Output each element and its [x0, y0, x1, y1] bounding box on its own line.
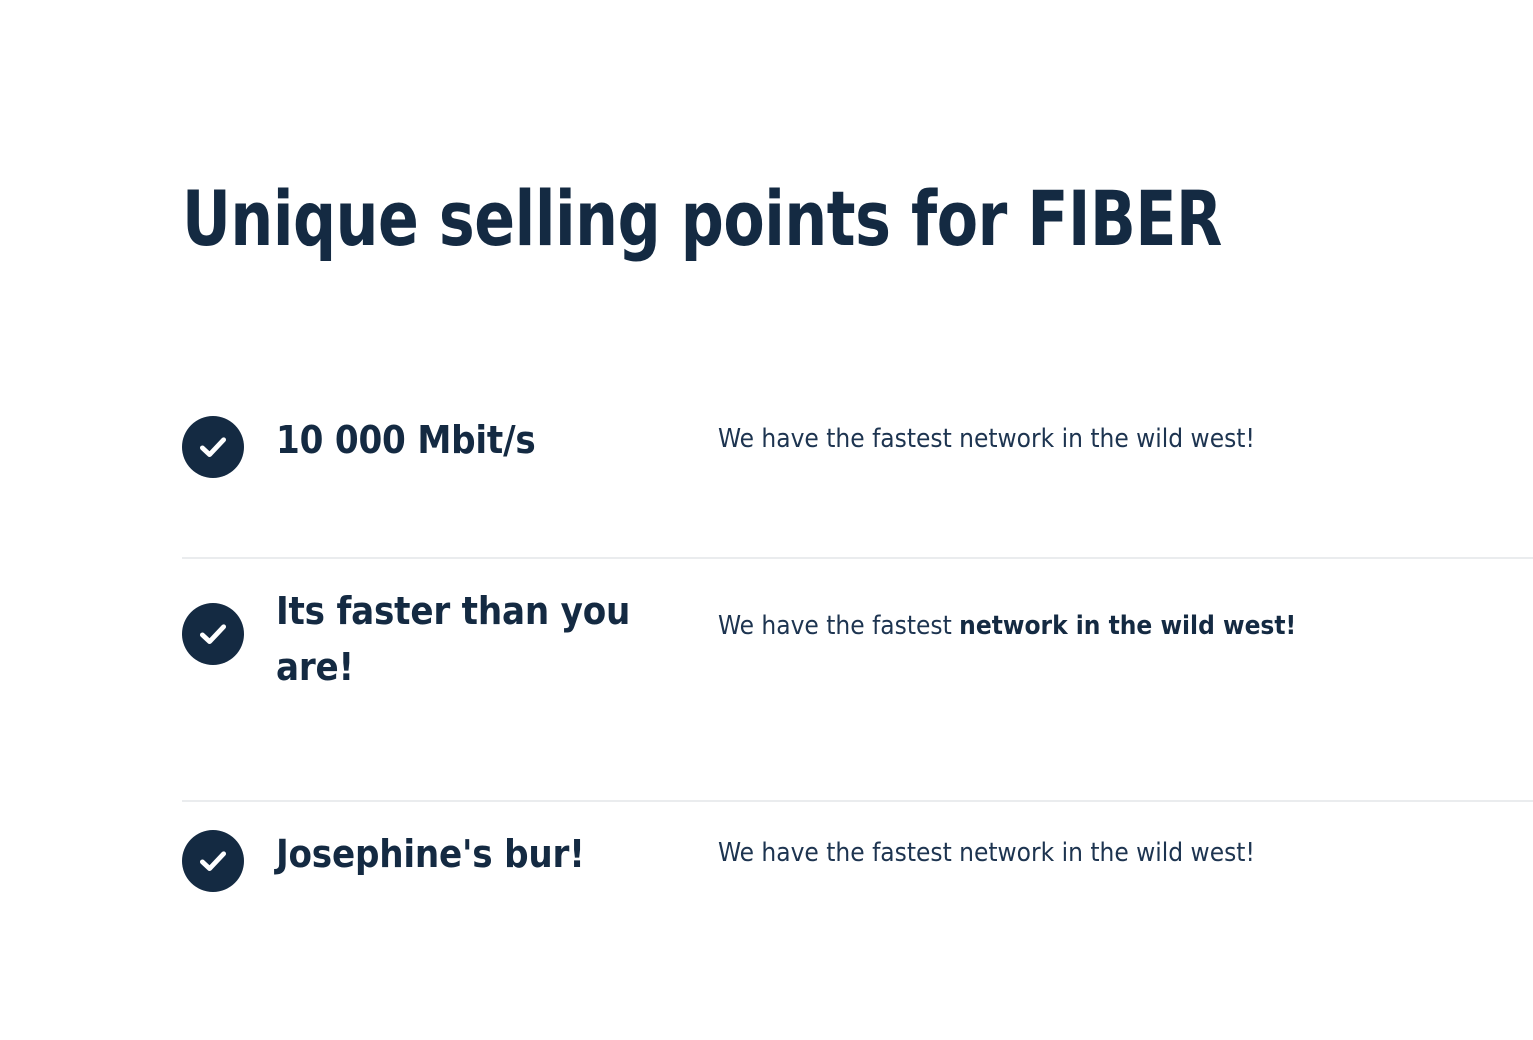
list-item: Josephine's bur! We have the fastest net…: [0, 810, 1533, 960]
usp-page: Unique selling points for FIBER 10 000 M…: [0, 0, 1533, 1040]
list-item: Its faster than you are! We have the fas…: [0, 567, 1533, 792]
page-title: Unique selling points for FIBER: [182, 174, 1222, 264]
check-circle-icon: [182, 416, 244, 478]
usp-item-title: 10 000 Mbit/s: [244, 396, 718, 468]
list-item: 10 000 Mbit/s We have the fastest networ…: [0, 396, 1533, 549]
usp-description-regular-text: We have the fastest network in the wild …: [718, 424, 1255, 454]
check-circle-icon: [182, 830, 244, 892]
usp-item-title: Josephine's bur!: [244, 810, 718, 882]
usp-item-description: We have the fastest network in the wild …: [718, 396, 1533, 458]
usp-list: 10 000 Mbit/s We have the fastest networ…: [0, 396, 1533, 960]
usp-item-description: We have the fastest network in the wild …: [718, 567, 1533, 645]
usp-description-regular-text: We have the fastest: [718, 611, 959, 641]
usp-description-bold-text: network in the wild west!: [959, 611, 1296, 641]
divider: [182, 800, 1533, 802]
usp-description-regular-text: We have the fastest network in the wild …: [718, 838, 1255, 868]
divider: [182, 557, 1533, 559]
check-circle-icon: [182, 603, 244, 665]
usp-item-title: Its faster than you are!: [244, 567, 718, 695]
usp-item-description: We have the fastest network in the wild …: [718, 810, 1533, 872]
